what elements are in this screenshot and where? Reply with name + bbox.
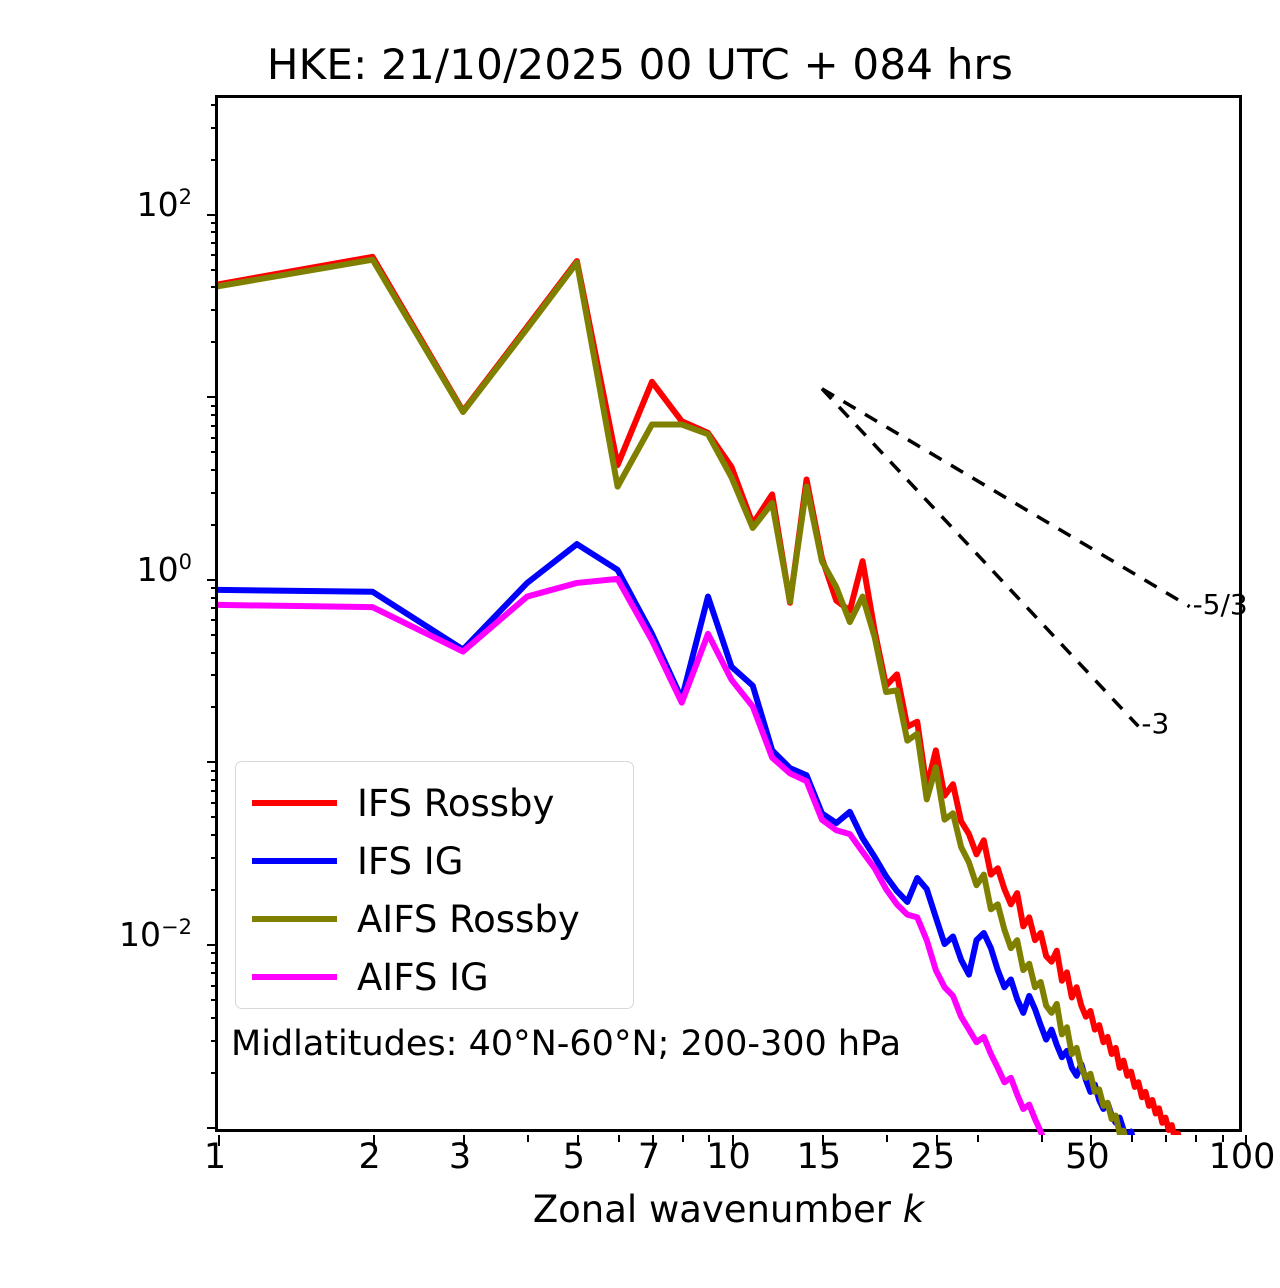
y-tick-minor [211, 597, 218, 599]
x-tick-label: 1 [170, 1140, 260, 1175]
x-tick-label: 25 [888, 1140, 978, 1175]
y-tick-minor [211, 790, 218, 792]
slope-reference-line [822, 389, 1138, 727]
y-tick-minor [211, 1072, 218, 1074]
legend-color-swatch [252, 858, 337, 864]
y-tick-minor [211, 770, 218, 772]
y-tick-label: 100 [137, 552, 192, 586]
y-tick-minor [211, 802, 218, 804]
x-tick-minor [1165, 1135, 1167, 1142]
x-tick-label: 7 [604, 1140, 694, 1175]
x-tick-label: 15 [774, 1140, 864, 1175]
y-tick-minor [211, 619, 218, 621]
y-tick-minor [211, 999, 218, 1001]
y-tick-major [207, 396, 218, 398]
x-axis-label-text: Zonal wavenumber [533, 1188, 903, 1231]
y-tick-major [207, 944, 218, 946]
y-tick-label: 102 [137, 187, 192, 221]
y-tick-minor [211, 857, 218, 859]
y-tick-minor [211, 834, 218, 836]
x-tick-label: 10 [684, 1140, 774, 1175]
y-tick-minor [211, 254, 218, 256]
y-tick-minor [211, 674, 218, 676]
legend-label: AIFS Rossby [357, 901, 580, 938]
y-tick-minor [211, 269, 218, 271]
x-tick-label: 100 [1197, 1140, 1280, 1175]
x-tick-label: 2 [325, 1140, 415, 1175]
y-tick-major [207, 761, 218, 763]
y-tick-minor [211, 652, 218, 654]
y-tick-minor [211, 972, 218, 974]
slope-label: -3 [1141, 707, 1169, 740]
y-tick-minor [211, 952, 218, 954]
y-tick-minor [211, 607, 218, 609]
legend-label: AIFS IG [357, 959, 489, 996]
figure: HKE: 21/10/2025 00 UTC + 084 hrs Horizon… [0, 0, 1280, 1288]
region-annotation: Midlatitudes: 40°N-60°N; 200-300 hPa [231, 1024, 901, 1064]
y-tick-minor [211, 341, 218, 343]
y-tick-minor [211, 469, 218, 471]
slope-label: -5/3 [1193, 588, 1248, 621]
legend-item[interactable]: AIFS IG [252, 946, 622, 1008]
y-tick-minor [211, 706, 218, 708]
y-tick-minor [211, 231, 218, 233]
y-tick-minor [211, 451, 218, 453]
y-tick-minor [211, 425, 218, 427]
slope-reference-line [822, 389, 1190, 607]
legend-label: IFS Rossby [357, 785, 554, 822]
legend-color-swatch [252, 974, 337, 980]
x-tick-label: 3 [415, 1140, 505, 1175]
y-tick-minor [211, 309, 218, 311]
legend-item[interactable]: IFS Rossby [252, 772, 622, 834]
y-tick-minor [211, 104, 218, 106]
y-tick-major [207, 214, 218, 216]
y-tick-major [207, 579, 218, 581]
x-tick-label: 50 [1042, 1140, 1132, 1175]
y-tick-minor [211, 889, 218, 891]
y-tick-minor [211, 159, 218, 161]
legend-item[interactable]: AIFS Rossby [252, 888, 622, 950]
legend[interactable]: IFS RossbyIFS IGAIFS RossbyAIFS IG [235, 761, 634, 1009]
legend-label: IFS IG [357, 843, 463, 880]
x-axis-label: Zonal wavenumber k [215, 1188, 1242, 1231]
y-tick-major [207, 1127, 218, 1129]
y-tick-minor [211, 816, 218, 818]
y-tick-minor [211, 1017, 218, 1019]
y-tick-minor [211, 437, 218, 439]
y-tick-minor [211, 222, 218, 224]
chart-title: HKE: 21/10/2025 00 UTC + 084 hrs [0, 40, 1280, 89]
y-tick-minor [211, 127, 218, 129]
y-tick-minor [211, 985, 218, 987]
y-tick-minor [211, 634, 218, 636]
legend-item[interactable]: IFS IG [252, 830, 622, 892]
y-tick-minor [211, 492, 218, 494]
y-tick-label: 10−2 [119, 917, 192, 951]
y-tick-minor [211, 779, 218, 781]
y-tick-minor [211, 286, 218, 288]
y-tick-minor [211, 962, 218, 964]
y-tick-minor [211, 405, 218, 407]
y-tick-minor [211, 1040, 218, 1042]
legend-color-swatch [252, 800, 337, 806]
y-tick-minor [211, 587, 218, 589]
y-tick-minor [211, 242, 218, 244]
y-tick-minor [211, 524, 218, 526]
x-axis-label-symbol: k [903, 1188, 924, 1231]
legend-color-swatch [252, 916, 337, 922]
y-tick-minor [211, 414, 218, 416]
